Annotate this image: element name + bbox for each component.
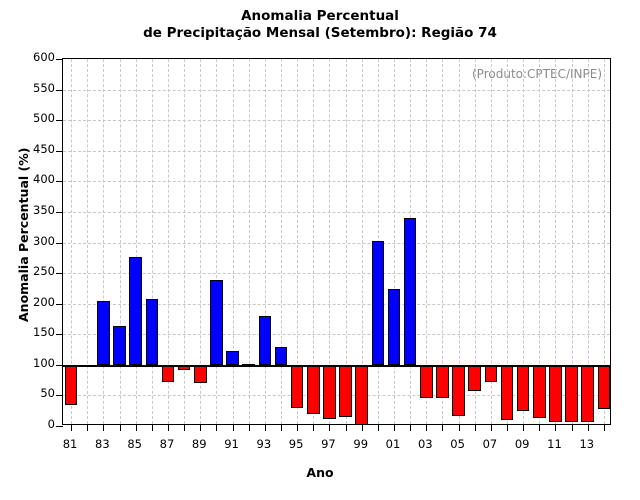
x-axis-tick — [523, 424, 524, 431]
bar — [146, 299, 159, 364]
x-axis-tick — [313, 424, 314, 431]
chart-title-line-2: de Precipitação Mensal (Setembro): Regiã… — [0, 25, 640, 42]
y-axis-tick — [56, 151, 63, 152]
bar — [129, 257, 142, 365]
x-axis-tick — [378, 424, 379, 431]
y-axis-tick — [56, 59, 63, 60]
x-axis-tick — [249, 424, 250, 431]
grid-line-vertical — [249, 59, 250, 424]
y-axis-tick — [56, 181, 63, 182]
bar — [194, 365, 207, 383]
bar — [501, 365, 514, 420]
grid-line-vertical — [152, 59, 153, 424]
x-axis-tick — [442, 424, 443, 431]
x-axis-tick — [87, 424, 88, 431]
y-axis-label: 250 — [13, 264, 55, 278]
bar — [226, 351, 239, 364]
x-axis-tick — [491, 424, 492, 431]
grid-line-horizontal — [63, 243, 610, 244]
bar — [468, 365, 481, 391]
y-axis-tick — [56, 426, 63, 427]
x-axis-tick — [184, 424, 185, 431]
grid-line-vertical — [136, 59, 137, 424]
x-axis-tick — [103, 424, 104, 431]
baseline-100 — [63, 365, 610, 367]
bar — [388, 289, 401, 365]
bar — [452, 365, 465, 416]
bar — [65, 365, 78, 405]
grid-line-horizontal — [63, 90, 610, 91]
grid-line-vertical — [216, 59, 217, 424]
grid-line-horizontal — [63, 151, 610, 152]
y-axis-label: 200 — [13, 295, 55, 309]
y-axis-label: 100 — [13, 356, 55, 370]
bar — [97, 301, 110, 365]
grid-line-horizontal — [63, 120, 610, 121]
bar — [275, 347, 288, 365]
x-axis-tick — [329, 424, 330, 431]
x-axis-tick — [346, 424, 347, 431]
grid-line-vertical — [233, 59, 234, 424]
y-axis-tick — [56, 334, 63, 335]
y-axis-label: 600 — [13, 50, 55, 64]
grid-line-horizontal — [63, 273, 610, 274]
x-axis-tick — [168, 424, 169, 431]
bar — [581, 365, 594, 422]
y-axis-tick — [56, 243, 63, 244]
y-axis-label: 150 — [13, 325, 55, 339]
y-axis-tick — [56, 120, 63, 121]
chart-title-line-1: Anomalia Percentual — [0, 8, 640, 25]
grid-line-vertical — [265, 59, 266, 424]
y-axis-tick — [56, 212, 63, 213]
x-axis-tick — [120, 424, 121, 431]
y-axis-tick — [56, 273, 63, 274]
bar — [291, 365, 304, 408]
bar — [355, 365, 368, 425]
x-axis-tick — [507, 424, 508, 431]
y-axis-tick — [56, 365, 63, 366]
grid-line-horizontal — [63, 212, 610, 213]
x-axis-tick — [588, 424, 589, 431]
x-axis-tick — [216, 424, 217, 431]
x-axis-tick — [572, 424, 573, 431]
grid-line-vertical — [103, 59, 104, 424]
bar — [517, 365, 530, 411]
grid-line-vertical — [394, 59, 395, 424]
x-axis-tick — [297, 424, 298, 431]
bar — [210, 280, 223, 364]
x-axis-tick — [394, 424, 395, 431]
bar — [372, 241, 385, 365]
x-axis-tick — [136, 424, 137, 431]
bar — [436, 365, 449, 398]
x-axis-tick — [410, 424, 411, 431]
y-axis-label: 550 — [13, 81, 55, 95]
x-axis-tick — [200, 424, 201, 431]
y-axis-label: 400 — [13, 172, 55, 186]
grid-line-vertical — [281, 59, 282, 424]
x-axis-tick — [604, 424, 605, 431]
y-axis-label: 350 — [13, 203, 55, 217]
bar — [533, 365, 546, 418]
x-axis-tick — [475, 424, 476, 431]
x-axis-tick — [426, 424, 427, 431]
x-axis-label: 13 — [567, 437, 607, 451]
y-axis-tick — [56, 395, 63, 396]
y-axis-tick — [56, 90, 63, 91]
x-axis-tick — [265, 424, 266, 431]
grid-line-vertical — [120, 59, 121, 424]
chart-title: Anomalia Percentual de Precipitação Mens… — [0, 8, 640, 42]
bar — [404, 218, 417, 365]
y-axis-tick — [56, 304, 63, 305]
bar — [323, 365, 336, 419]
x-axis-tick — [71, 424, 72, 431]
bar — [259, 316, 272, 365]
x-axis-tick — [233, 424, 234, 431]
bar — [162, 365, 175, 382]
grid-line-horizontal — [63, 181, 610, 182]
bar — [485, 365, 498, 382]
x-axis-tick — [459, 424, 460, 431]
x-axis-tick — [362, 424, 363, 431]
y-axis-label: 50 — [13, 386, 55, 400]
y-axis-label: 500 — [13, 111, 55, 125]
y-axis-label: 300 — [13, 234, 55, 248]
bar — [549, 365, 562, 422]
bar — [339, 365, 352, 418]
chart-root: Anomalia Percentual de Precipitação Mens… — [0, 0, 640, 500]
x-axis-tick — [152, 424, 153, 431]
plot-area: (Produto:CPTEC/INPE) — [62, 58, 611, 425]
x-axis-tick — [281, 424, 282, 431]
x-axis-tick — [539, 424, 540, 431]
bar — [598, 365, 611, 410]
bar — [307, 365, 320, 414]
bar — [420, 365, 433, 399]
x-axis-title: Ano — [0, 465, 640, 480]
bar — [565, 365, 578, 422]
y-axis-label: 0 — [13, 417, 55, 431]
x-axis-tick — [555, 424, 556, 431]
bar — [113, 326, 126, 365]
grid-line-vertical — [87, 59, 88, 424]
y-axis-label: 450 — [13, 142, 55, 156]
